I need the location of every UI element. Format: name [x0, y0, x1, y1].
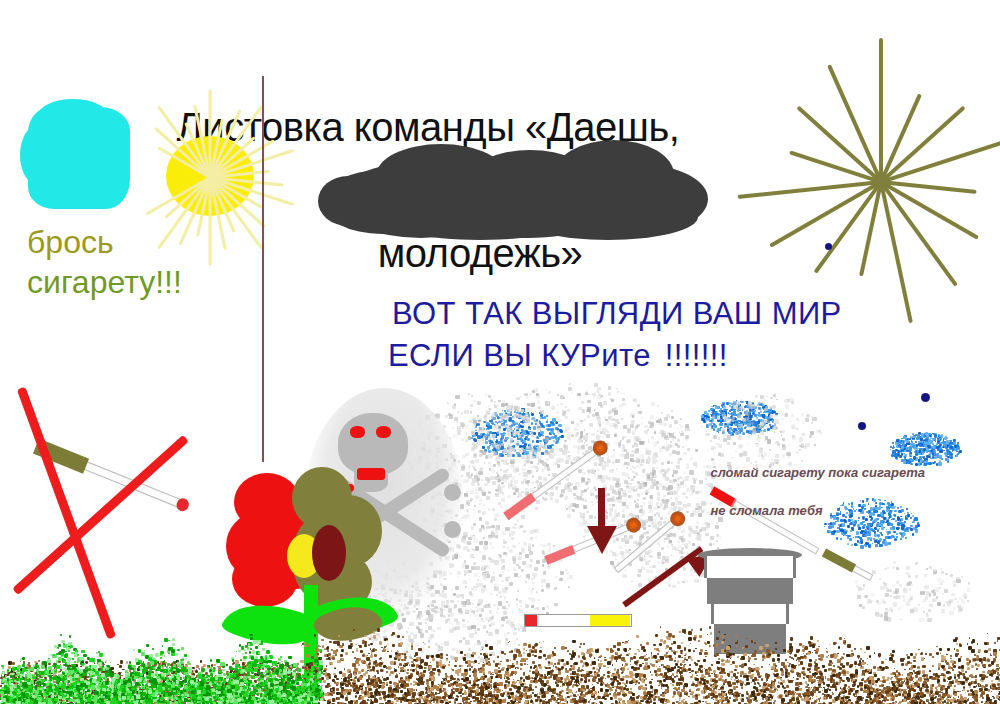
ground-speck [980, 694, 983, 697]
smoke-speck [756, 404, 759, 407]
ground-speck [782, 680, 785, 683]
smoke-speck [708, 423, 712, 427]
smoke-speck [863, 584, 865, 586]
smoke-speck [708, 433, 711, 436]
grass-speck [140, 673, 143, 676]
ground-speck [686, 695, 687, 696]
ground-speck [590, 657, 591, 658]
smoke-speck [543, 571, 546, 574]
smoke-speck [639, 441, 643, 445]
grass-speck [63, 664, 65, 666]
grass-speck [51, 669, 54, 672]
ground-speck [690, 643, 691, 644]
ground-speck [860, 658, 862, 660]
spray-speck [911, 440, 912, 441]
ground-speck [428, 646, 430, 648]
ground-speck [532, 689, 534, 691]
smoke-speck [534, 567, 538, 571]
smoke-speck [599, 462, 603, 466]
grass-speck [2, 671, 4, 673]
grass-speck [22, 664, 25, 667]
smoke-speck [666, 414, 670, 418]
smoke-speck [536, 395, 540, 399]
ground-speck [393, 688, 396, 691]
smoke-speck [622, 398, 625, 401]
smoke-speck [677, 461, 680, 464]
grass-speck [98, 662, 102, 666]
smoke-speck [503, 565, 505, 567]
smoke-speck [629, 535, 633, 539]
smoke-speck [899, 584, 902, 587]
ground-speck [793, 680, 794, 681]
ground-speck [762, 659, 764, 661]
grass-speck [130, 689, 132, 691]
ground-speck [947, 686, 950, 689]
ground-speck [514, 660, 515, 661]
ground-speck [967, 667, 970, 670]
ground-speck [691, 670, 693, 672]
ground-speck [519, 695, 520, 696]
smoke-speck [555, 486, 558, 489]
smoke-speck [568, 586, 570, 588]
ground-speck [616, 652, 618, 654]
smoke-speck [567, 482, 571, 486]
ground-speck [648, 657, 650, 659]
smoke-speck [652, 524, 656, 528]
grass-speck [217, 686, 220, 689]
grass-speck [176, 653, 179, 656]
warning-message-line-2-main: ЕСЛИ ВЫ КУР [388, 338, 601, 373]
ground-speck [994, 642, 996, 644]
ground-speck [977, 664, 980, 667]
ground-speck [882, 676, 885, 679]
smoke-speck [634, 460, 636, 462]
ground-speck [727, 673, 730, 676]
ground-speck [947, 694, 950, 697]
smoke-speck [477, 579, 479, 581]
smoke-speck [626, 467, 628, 469]
ground-speck [389, 655, 392, 658]
smoke-speck [549, 469, 551, 471]
grass-speck [12, 673, 15, 676]
ground-speck [901, 678, 903, 680]
ground-speck [588, 679, 591, 682]
ground-speck [500, 684, 503, 687]
ground-speck [844, 684, 847, 687]
spray-speck [556, 439, 558, 441]
ground-speck [758, 676, 760, 678]
ground-speck [932, 684, 935, 687]
smoke-speck [534, 388, 539, 393]
smoke-speck [562, 450, 566, 454]
smoke-speck [535, 455, 537, 457]
smoke-speck [673, 417, 674, 418]
smoke-speck [686, 488, 690, 492]
spray-speck [722, 402, 723, 403]
smoke-speck [541, 469, 544, 472]
ground-speck [724, 634, 726, 636]
smoke-speck [588, 473, 590, 475]
ground-speck [653, 644, 655, 646]
ground-speck [680, 652, 683, 655]
ground-speck [832, 674, 836, 678]
smoke-speck [608, 392, 611, 395]
smoke-speck [880, 586, 884, 590]
grass-speck [258, 664, 261, 667]
smoke-speck [478, 487, 482, 491]
smoke-speck [518, 556, 522, 560]
smoke-speck [685, 435, 689, 439]
ground-speck [955, 653, 958, 656]
smoke-speck [510, 464, 514, 468]
smoke-speck [781, 418, 784, 421]
ground-speck [645, 684, 647, 686]
grass-speck [54, 670, 57, 673]
ground-speck [907, 656, 910, 659]
ground-speck [535, 643, 538, 646]
smoke-speck [949, 599, 953, 603]
grass-speck [227, 689, 231, 693]
ground-speck [718, 678, 721, 681]
smoke-speck [587, 470, 590, 473]
smoke-speck [747, 404, 750, 407]
grass-speck [33, 665, 35, 667]
grass-speck [161, 677, 164, 680]
smoke-speck [660, 517, 664, 521]
smoke-speck [657, 497, 661, 501]
ground-speck [513, 682, 516, 685]
ground-speck [913, 689, 916, 692]
smoke-speck [482, 573, 486, 577]
ground-speck [809, 668, 811, 670]
grass-speck [168, 647, 172, 651]
ground-speck [963, 681, 964, 682]
ground-speck [454, 665, 457, 668]
smoke-speck [648, 505, 652, 509]
smoke-speck [531, 403, 535, 407]
grass-speck [107, 697, 109, 699]
spray-speck [933, 462, 935, 464]
smoke-speck [478, 471, 482, 475]
smoke-speck [764, 419, 768, 423]
grass-speck [56, 665, 60, 669]
ground-speck [531, 650, 534, 653]
smoke-speck [559, 578, 563, 582]
grass-speck [230, 667, 233, 670]
ground-speck [881, 669, 883, 671]
grass-speck [97, 677, 101, 681]
ground-speck [752, 653, 756, 657]
ground-speck [401, 697, 404, 700]
ground-speck [703, 659, 706, 662]
smoke-speck [565, 426, 569, 430]
ground-speck [335, 654, 337, 656]
ground-speck [472, 671, 474, 673]
grass-speck [16, 678, 19, 681]
spray-speck [939, 437, 941, 439]
smoke-speck [772, 405, 776, 409]
ground-speck [612, 664, 614, 666]
ground-speck [781, 673, 784, 676]
smoke-speck [672, 474, 674, 476]
ground-speck [925, 689, 928, 692]
ground-speck [488, 663, 491, 666]
smoke-speck [944, 589, 948, 593]
ground-speck [640, 644, 641, 645]
smoke-speck [503, 546, 505, 548]
smoke-speck [616, 481, 620, 485]
smoke-speck [546, 464, 549, 467]
grass-speck [252, 675, 255, 678]
ground-speck [607, 667, 609, 669]
ground-speck [425, 688, 426, 689]
ground-speck [842, 691, 845, 694]
grass-speck [249, 634, 251, 636]
ground-speck [979, 658, 982, 661]
ground-speck [676, 671, 678, 673]
ground-speck [348, 677, 350, 679]
smoke-speck [479, 503, 481, 505]
spray-speck [552, 419, 554, 421]
grass-speck [52, 686, 55, 689]
grass-speck [139, 687, 142, 690]
ground-speck [421, 682, 424, 685]
smoke-speck [524, 511, 526, 513]
smoke-speck [597, 434, 600, 437]
ground-speck [923, 674, 926, 677]
grass-speck [254, 686, 257, 689]
ground-speck [757, 679, 759, 681]
smoke-speck [606, 453, 608, 455]
smoke-speck [536, 591, 538, 593]
smoke-speck [473, 509, 475, 511]
smoke-speck [548, 564, 551, 567]
grass-speck [178, 664, 181, 667]
smoke-speck [942, 593, 944, 595]
grass-speck [61, 684, 65, 688]
grass-speck [35, 693, 38, 696]
grass-speck [275, 688, 278, 691]
smoke-speck [630, 468, 632, 470]
spray-speck [913, 439, 914, 440]
grass-speck [81, 650, 84, 653]
ground-speck [736, 686, 737, 687]
ground-speck [379, 641, 382, 644]
smoke-speck [512, 531, 515, 534]
smoke-speck [555, 576, 557, 578]
grass-speck [311, 690, 313, 692]
ground-speck [366, 657, 370, 661]
ground-speck [707, 641, 710, 644]
smoke-speck [659, 483, 663, 487]
ground-speck [337, 643, 339, 645]
ground-speck [400, 670, 402, 672]
ground-speck [446, 659, 448, 661]
smoke-speck [683, 535, 685, 537]
ground-speck [554, 663, 556, 665]
smoke-speck [677, 428, 679, 430]
grass-speck [75, 699, 78, 702]
ground-speck [943, 688, 945, 690]
smoke-speck [713, 425, 717, 429]
smoke-speck [490, 399, 493, 402]
ground-speck [806, 692, 809, 695]
smoke-speck [680, 482, 684, 486]
smoke-speck [481, 567, 485, 571]
ground-speck [472, 686, 475, 689]
ground-speck [416, 671, 419, 674]
smoke-speck [726, 419, 731, 424]
grass-speck [70, 645, 73, 648]
smoke-speck [741, 399, 742, 400]
ground-speck [370, 655, 373, 658]
smoke-speck [723, 405, 727, 409]
ground-speck [881, 695, 884, 698]
grass-speck [84, 692, 86, 694]
ground-speck [655, 634, 658, 637]
spray-speck [874, 540, 877, 543]
skull-eye-right [376, 426, 391, 438]
ground-speck [743, 675, 746, 678]
grass-speck [173, 669, 175, 671]
ground-speck [672, 635, 675, 638]
smoke-speck [539, 466, 540, 467]
ground-speck [706, 697, 709, 700]
smoke-speck [909, 581, 912, 584]
smoke-speck [473, 557, 474, 558]
smoke-speck [478, 572, 481, 575]
smoke-speck [506, 469, 509, 472]
ground-speck [651, 679, 653, 681]
smoke-speck [473, 538, 478, 543]
ground-speck [545, 667, 548, 670]
ground-speck [350, 700, 353, 703]
grass-speck [236, 686, 240, 690]
grass-speck [317, 695, 320, 698]
ground-speck [913, 656, 916, 659]
ground-speck [639, 676, 641, 678]
smoke-speck [774, 431, 776, 433]
smoke-speck [503, 552, 506, 555]
ground-speck [473, 673, 477, 677]
small-cigarette [822, 549, 874, 582]
smoke-speck [513, 468, 517, 472]
smoke-speck [548, 549, 552, 553]
ground-speck [996, 664, 999, 667]
ground-speck [705, 656, 707, 658]
ground-speck [667, 676, 671, 680]
ground-speck [881, 661, 884, 664]
grass-speck [318, 665, 321, 668]
ground-speck [388, 687, 392, 691]
smoke-speck [501, 563, 503, 565]
ground-speck [743, 648, 745, 650]
ground-speck [580, 678, 583, 681]
grass-speck [69, 635, 72, 638]
ground-speck [533, 667, 535, 669]
grass-speck [2, 667, 5, 670]
smoke-speck [577, 450, 581, 454]
grass-speck [54, 692, 56, 694]
ground-speck [391, 693, 394, 696]
smoke-speck [498, 484, 500, 486]
ground-speck [368, 653, 370, 655]
smoke-speck [496, 594, 498, 596]
ground-speck [799, 689, 802, 692]
smoke-speck [542, 564, 544, 566]
ground-speck [675, 657, 676, 658]
smoke-speck [545, 437, 550, 442]
grass-speck [261, 660, 262, 661]
ground-speck [867, 695, 869, 697]
ground-speck [722, 697, 725, 700]
ground-speck [718, 689, 720, 691]
grass-speck [222, 699, 224, 701]
ground-speck [837, 659, 841, 663]
spray-speck [762, 414, 766, 418]
ground-speck [662, 664, 664, 666]
ground-speck [449, 661, 450, 662]
navy-dot [858, 422, 866, 430]
smoke-speck [482, 492, 486, 496]
ground-speck [778, 644, 779, 645]
grass-speck [245, 680, 248, 683]
ground-speck [666, 652, 668, 654]
ground-speck [877, 668, 880, 671]
smoke-speck [644, 425, 648, 429]
grass-speck [196, 679, 198, 681]
ground-speck [858, 658, 859, 659]
smoke-speck [937, 602, 941, 606]
grass-speck [45, 683, 48, 686]
smoke-speck [770, 397, 773, 400]
ground-speck [442, 696, 445, 699]
smoke-speck [479, 421, 481, 423]
smoke-speck [530, 565, 532, 567]
grass-speck [314, 676, 317, 679]
ground-speck [704, 652, 707, 655]
smoke-speck [569, 439, 571, 441]
smoke-speck [557, 394, 559, 396]
ground-speck [354, 677, 356, 679]
smoke-speck [628, 490, 631, 493]
ground-speck [578, 655, 581, 658]
smoke-speck [609, 477, 611, 479]
ground-speck [667, 686, 669, 688]
ground-speck [771, 696, 773, 698]
grass-speck [136, 662, 140, 666]
spray-speck [731, 423, 733, 425]
ground-speck [867, 687, 871, 691]
ground-speck [534, 694, 538, 698]
smoke-speck [498, 554, 501, 557]
ground-speck [761, 679, 763, 681]
grass-speck [38, 675, 39, 676]
smoke-speck [745, 417, 749, 421]
grass-speck [297, 675, 301, 679]
smoke-speck [473, 535, 474, 536]
smoke-speck [580, 446, 585, 451]
ground-speck [963, 689, 965, 691]
ground-speck [390, 661, 394, 665]
ground-speck [553, 653, 556, 656]
smoke-speck [653, 507, 656, 510]
spray-speck [754, 411, 755, 412]
smoke-speck [488, 462, 491, 465]
ground-speck [740, 675, 742, 677]
grass-speck [269, 655, 273, 659]
ground-speck [676, 701, 679, 704]
